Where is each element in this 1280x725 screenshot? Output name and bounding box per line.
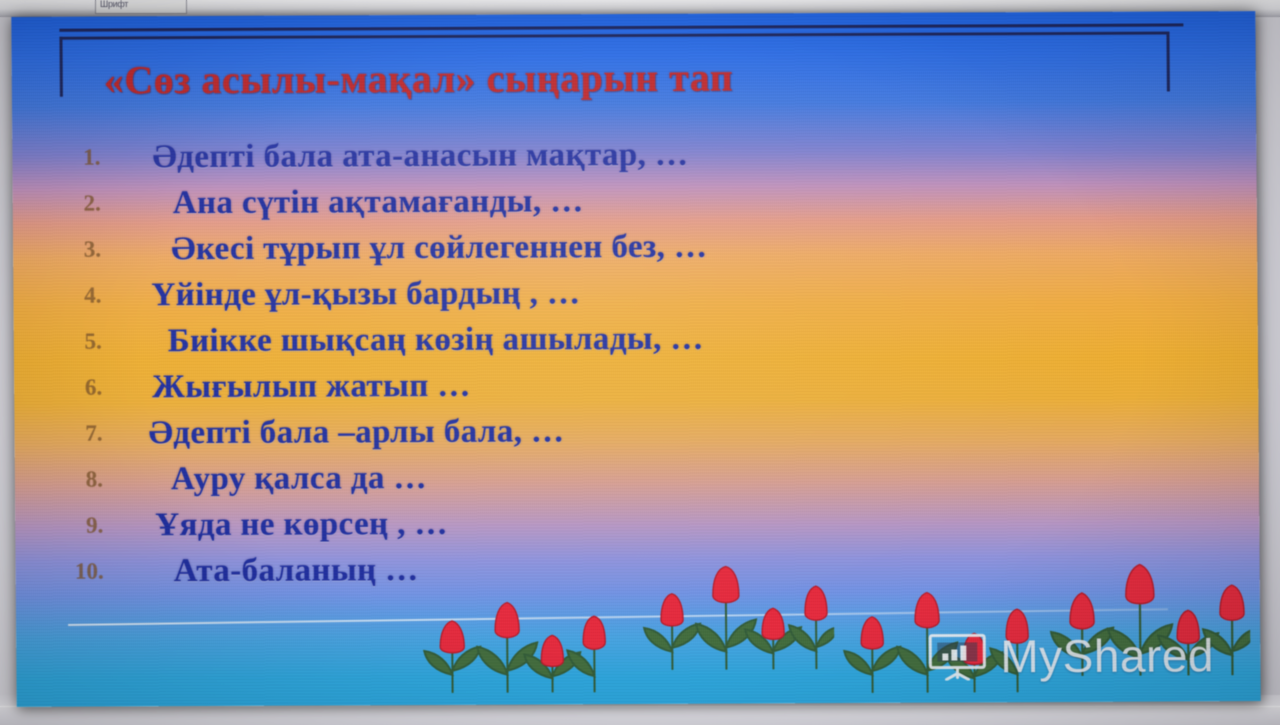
screenshot-root: Шрифт «Сөз асылы-мақал» сыңарын тап 1. Ә… <box>0 0 1280 725</box>
page-title: «Сөз асылы-мақал» сыңарын тап <box>104 52 1104 105</box>
watermark-label: MyShared <box>1000 632 1214 679</box>
list-item-text: Жығылып жатып … <box>152 366 471 407</box>
list-item-number: 2. <box>13 190 109 216</box>
list-item-number: 10. <box>16 558 112 584</box>
list-item-number: 9. <box>15 512 111 538</box>
list-item-number: 1. <box>12 144 108 170</box>
title-top-rule <box>59 23 1183 31</box>
list-item-text: Ұяда не көрсең , … <box>155 504 448 545</box>
tulip-cluster-left <box>412 588 613 699</box>
list-item[interactable]: 9. Ұяда не көрсең , … <box>15 497 1259 549</box>
presentation-slide: «Сөз асылы-мақал» сыңарын тап 1. Әдепті … <box>11 11 1260 707</box>
proverb-list: 1. Әдепті бала ата-анасын мақтар, … 2. А… <box>12 129 1260 595</box>
list-item-text: Ауру қалса да … <box>171 458 427 499</box>
list-item-text: Әкесі тұрып ұл сөйлегеннен без, … <box>171 227 707 270</box>
list-item-text: Үйінде ұл-қызы бардың , … <box>151 273 580 315</box>
list-item-text: Әдепті бала ата-анасын мақтар, … <box>152 135 688 178</box>
list-item-number: 5. <box>14 328 110 354</box>
list-item-number: 3. <box>13 236 109 262</box>
list-item-text: Ата-баланың … <box>173 550 418 591</box>
list-item[interactable]: 7. Әдепті бала –арлы бала, … <box>14 405 1258 457</box>
list-item-number: 6. <box>14 374 110 400</box>
list-item[interactable]: 4. Үйінде ұл-қызы бардың , … <box>13 267 1257 319</box>
list-item[interactable]: 6. Жығылып жатып … <box>14 359 1258 411</box>
watermark: MyShared <box>926 631 1214 680</box>
list-item-number: 7. <box>14 420 110 446</box>
list-item[interactable]: 2. Ана сүтін ақтамағанды, … <box>13 175 1257 227</box>
list-item[interactable]: 3. Әкесі тұрып ұл сөйлегеннен без, … <box>13 221 1257 273</box>
desktop-bottom-line <box>0 706 1280 707</box>
toolbar-tab-label: Шрифт <box>100 0 128 9</box>
tulip-group-icon <box>634 557 835 676</box>
list-item-text: Әдепті бала –арлы бала, … <box>148 411 564 453</box>
list-item-text: Биікке шықсаң көзің ашылады, … <box>168 319 704 362</box>
presentation-board-icon <box>926 632 988 680</box>
list-item-number: 8. <box>15 466 111 492</box>
list-item[interactable]: 8. Ауру қалса да … <box>15 451 1259 503</box>
list-item[interactable]: 1. Әдепті бала ата-анасын мақтар, … <box>12 129 1256 181</box>
presentation-slide-wrapper: «Сөз асылы-мақал» сыңарын тап 1. Әдепті … <box>11 11 1260 707</box>
list-item-text: Ана сүтін ақтамағанды, … <box>173 181 584 223</box>
tulip-cluster-center <box>634 557 835 676</box>
tulip-group-icon <box>412 588 613 699</box>
list-item-number: 4. <box>13 282 109 308</box>
list-item[interactable]: 5. Биікке шықсаң көзің ашылады, … <box>14 313 1258 365</box>
